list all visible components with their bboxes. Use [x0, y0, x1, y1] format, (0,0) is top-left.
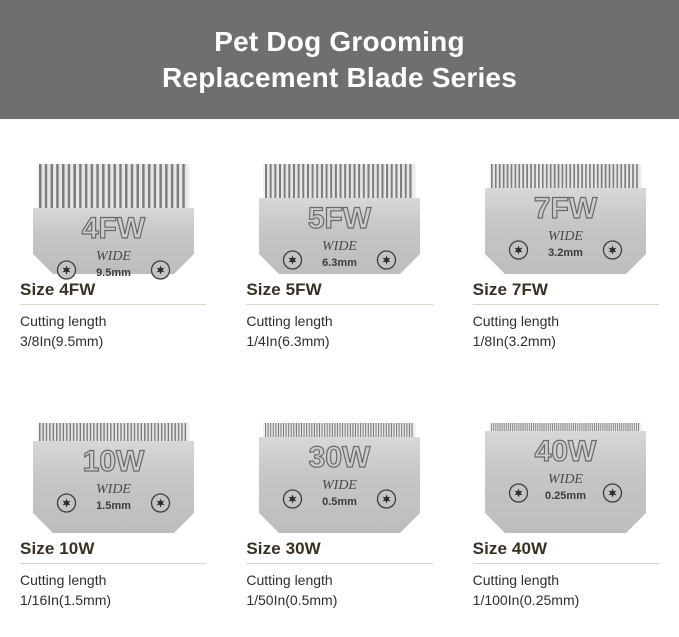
- blade-size-engraving: 4FW: [81, 212, 145, 245]
- cutting-length-label: Cutting length: [473, 311, 659, 331]
- screw-icon: [151, 494, 169, 512]
- product-caption: Size 4FWCutting length3/8In(9.5mm): [12, 279, 214, 351]
- blade-illustration-4FW: 4FWWIDE9.5mm: [21, 146, 206, 286]
- blade-mm-engraving: 6.3mm: [322, 257, 357, 269]
- screw-icon: [604, 484, 622, 502]
- screw-icon: [377, 490, 395, 508]
- product-size-title: Size 40W: [473, 538, 659, 560]
- caption-divider: [246, 304, 432, 305]
- blade-image-wrap: 5FWWIDE6.3mm: [238, 119, 440, 279]
- product-card-size-40w: 40WWIDE0.25mmSize 40WCutting length1/100…: [453, 378, 679, 637]
- blade-image-wrap: 40WWIDE0.25mm: [465, 378, 667, 538]
- product-card-size-30w: 30WWIDE0.5mmSize 30WCutting length1/50In…: [226, 378, 452, 637]
- cutting-length-label: Cutting length: [20, 311, 206, 331]
- screw-icon: [510, 241, 528, 259]
- blade-illustration-10W: 10WWIDE1.5mm: [21, 405, 206, 545]
- caption-divider: [473, 563, 659, 564]
- cutting-length-value: 3/8In(9.5mm): [20, 331, 206, 351]
- product-caption: Size 5FWCutting length1/4In(6.3mm): [238, 279, 440, 351]
- blade-illustration-30W: 30WWIDE0.5mm: [247, 405, 432, 545]
- header-title-line-1: Pet Dog Grooming: [214, 24, 465, 60]
- product-size-title: Size 5FW: [246, 279, 432, 301]
- blade-size-engraving: 7FW: [534, 192, 598, 225]
- screw-icon: [283, 490, 301, 508]
- screw-icon: [604, 241, 622, 259]
- blade-wide-engraving: WIDE: [548, 229, 583, 244]
- product-card-size-5fw: 5FWWIDE6.3mmSize 5FWCutting length1/4In(…: [226, 119, 452, 378]
- blade-mm-engraving: 3.2mm: [548, 247, 583, 259]
- header-title-line-2: Replacement Blade Series: [162, 60, 517, 96]
- product-card-size-7fw: 7FWWIDE3.2mmSize 7FWCutting length1/8In(…: [453, 119, 679, 378]
- screw-icon: [57, 494, 75, 512]
- blade-wide-engraving: WIDE: [548, 472, 583, 487]
- screw-icon: [283, 251, 301, 269]
- product-caption: Size 30WCutting length1/50In(0.5mm): [238, 538, 440, 610]
- blade-wide-engraving: WIDE: [96, 482, 131, 497]
- cutting-length-label: Cutting length: [246, 311, 432, 331]
- cutting-length-value: 1/16In(1.5mm): [20, 590, 206, 610]
- blade-size-engraving: 40W: [535, 435, 597, 468]
- cutting-length-value: 1/50In(0.5mm): [246, 590, 432, 610]
- product-caption: Size 10WCutting length1/16In(1.5mm): [12, 538, 214, 610]
- product-caption: Size 40WCutting length1/100In(0.25mm): [465, 538, 667, 610]
- screw-icon: [377, 251, 395, 269]
- cutting-length-value: 1/8In(3.2mm): [473, 331, 659, 351]
- blade-size-engraving: 10W: [82, 445, 144, 478]
- blade-wide-engraving: WIDE: [96, 249, 131, 264]
- cutting-length-value: 1/100In(0.25mm): [473, 590, 659, 610]
- product-grid: 4FWWIDE9.5mmSize 4FWCutting length3/8In(…: [0, 119, 679, 637]
- product-caption: Size 7FWCutting length1/8In(3.2mm): [465, 279, 667, 351]
- blade-size-engraving: 30W: [309, 441, 371, 474]
- product-card-size-4fw: 4FWWIDE9.5mmSize 4FWCutting length3/8In(…: [0, 119, 226, 378]
- blade-mm-engraving: 1.5mm: [96, 500, 131, 512]
- blade-image-wrap: 7FWWIDE3.2mm: [465, 119, 667, 279]
- cutting-length-label: Cutting length: [20, 570, 206, 590]
- blade-image-wrap: 4FWWIDE9.5mm: [12, 119, 214, 279]
- caption-divider: [20, 304, 206, 305]
- blade-size-engraving: 5FW: [308, 202, 372, 235]
- cutting-length-label: Cutting length: [246, 570, 432, 590]
- product-size-title: Size 30W: [246, 538, 432, 560]
- header-banner: Pet Dog Grooming Replacement Blade Serie…: [0, 0, 679, 119]
- screw-icon: [510, 484, 528, 502]
- blade-image-wrap: 30WWIDE0.5mm: [238, 378, 440, 538]
- blade-image-wrap: 10WWIDE1.5mm: [12, 378, 214, 538]
- caption-divider: [20, 563, 206, 564]
- product-size-title: Size 10W: [20, 538, 206, 560]
- product-size-title: Size 7FW: [473, 279, 659, 301]
- cutting-length-value: 1/4In(6.3mm): [246, 331, 432, 351]
- caption-divider: [246, 563, 432, 564]
- blade-mm-engraving: 9.5mm: [96, 267, 131, 279]
- product-size-title: Size 4FW: [20, 279, 206, 301]
- blade-illustration-40W: 40WWIDE0.25mm: [473, 405, 658, 545]
- caption-divider: [473, 304, 659, 305]
- blade-wide-engraving: WIDE: [322, 239, 357, 254]
- cutting-length-label: Cutting length: [473, 570, 659, 590]
- blade-wide-engraving: WIDE: [322, 478, 357, 493]
- blade-illustration-5FW: 5FWWIDE6.3mm: [247, 146, 432, 286]
- blade-illustration-7FW: 7FWWIDE3.2mm: [473, 146, 658, 286]
- blade-mm-engraving: 0.5mm: [322, 496, 357, 508]
- blade-mm-engraving: 0.25mm: [545, 490, 586, 502]
- screw-icon: [57, 261, 75, 279]
- screw-icon: [151, 261, 169, 279]
- product-card-size-10w: 10WWIDE1.5mmSize 10WCutting length1/16In…: [0, 378, 226, 637]
